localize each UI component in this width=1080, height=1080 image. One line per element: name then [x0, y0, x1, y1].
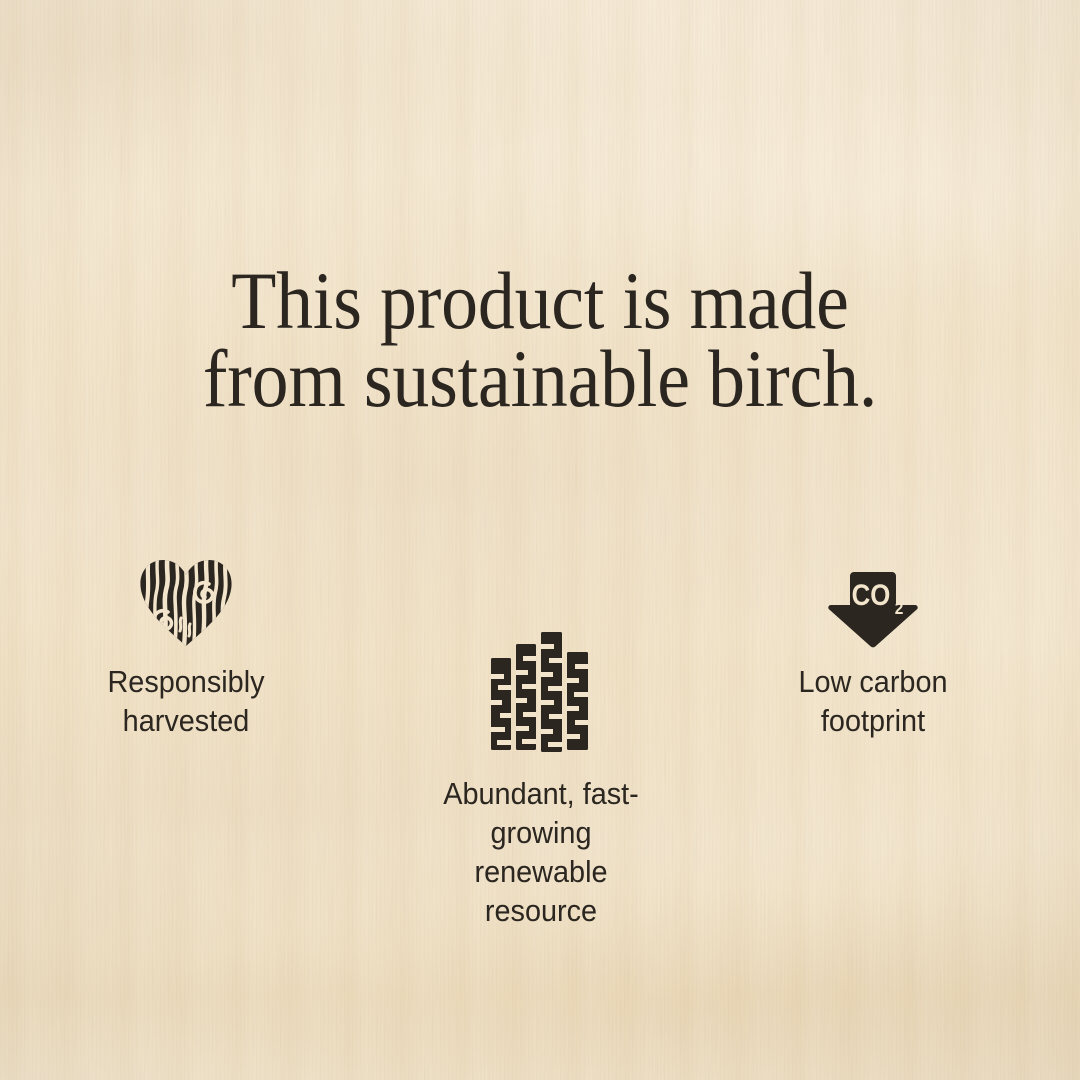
headline: This product is made from sustainable bi… [54, 262, 1026, 418]
feature-low-carbon-footprint: CO 2 Low carbon footprint [742, 552, 1004, 740]
feature-renewable-resource: Abundant, fast-growing renewable resourc… [410, 626, 672, 930]
feature-icon-slot [410, 626, 672, 752]
feature-responsibly-harvested: Responsibly harvested [55, 552, 317, 740]
birch-trunks-icon [489, 630, 593, 752]
sustainability-panel: This product is made from sustainable bi… [0, 0, 1080, 1080]
co2-label: CO [852, 578, 891, 611]
co2-subscript: 2 [895, 598, 904, 618]
feature-caption: Responsibly harvested [64, 662, 308, 740]
co2-down-arrow-icon: CO 2 [827, 572, 919, 648]
feature-icon-slot [55, 552, 317, 648]
feature-caption: Abundant, fast-growing renewable resourc… [419, 774, 663, 930]
feature-icon-slot: CO 2 [742, 552, 1004, 648]
feature-caption: Low carbon footprint [751, 662, 995, 740]
wood-grain-heart-icon [138, 558, 234, 648]
